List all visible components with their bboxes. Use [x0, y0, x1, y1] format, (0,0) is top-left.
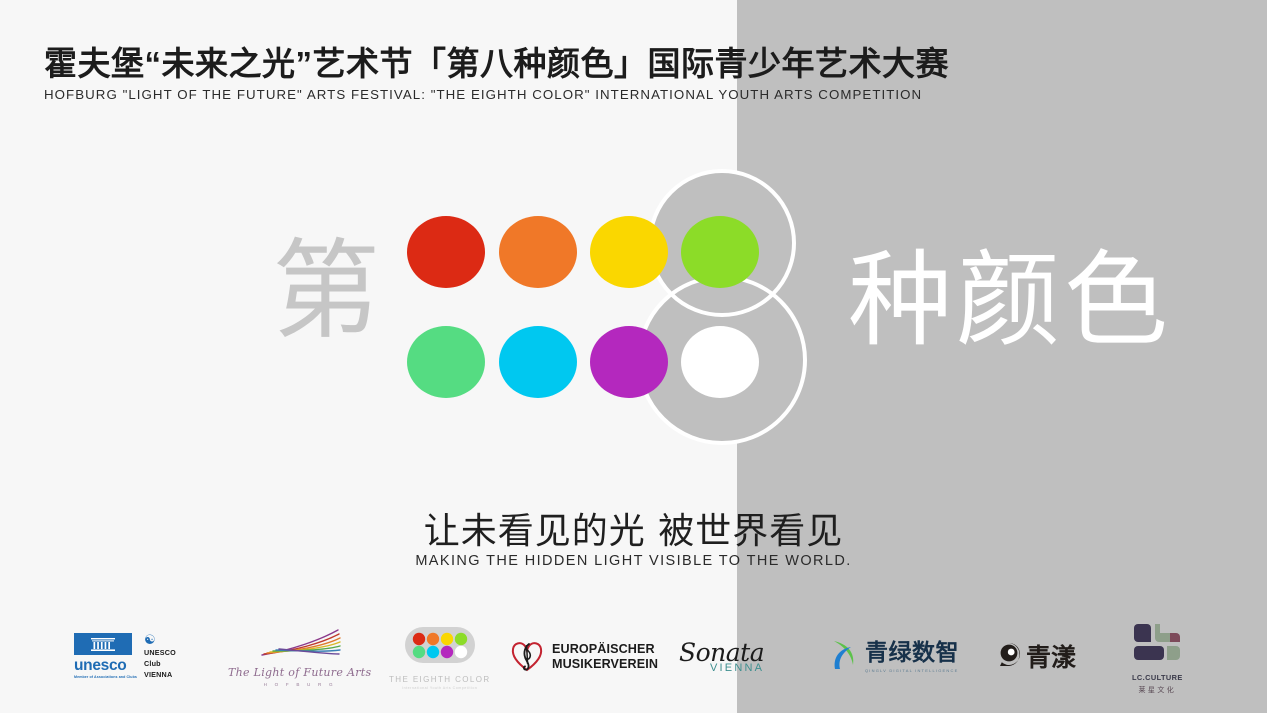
light-rays-icon [258, 628, 342, 663]
dot-cyan [499, 326, 577, 398]
lofa-subtitle: H O F B U R G [264, 682, 336, 687]
poster-canvas: 霍夫堡“未来之光”艺术节「第八种颜色」国际青少年艺术大赛 HOFBURG "LI… [0, 0, 1267, 713]
chars-zhong-yan-se: 种颜色 [848, 248, 1172, 352]
lc-culture-mark-icon [1133, 620, 1181, 669]
unesco-club-line1: UNESCO [144, 648, 176, 659]
logo-light-of-future-arts[interactable]: The Light of Future Arts H O F B U R G [228, 612, 371, 702]
qinglv-name: 青绿数智 [865, 642, 959, 665]
logo-qinglv-shuzhi[interactable]: 青绿数智 QINGLV DIGITAL INTELLIGENCE [829, 612, 959, 702]
heart-treble-clef-icon [510, 637, 544, 678]
unesco-club-line2: Club [144, 659, 176, 670]
tagline-english: MAKING THE HIDDEN LIGHT VISIBLE TO THE W… [0, 553, 1267, 569]
dot-white [681, 326, 759, 398]
logo-unesco[interactable]: unesco Member of Associations and Clubs … [74, 612, 176, 702]
dot-orange [499, 216, 577, 288]
lc-culture-name: LC.CULTURE [1132, 673, 1183, 682]
dot-red [407, 216, 485, 288]
tagline-block: 让未看见的光 被世界看见 MAKING THE HIDDEN LIGHT VIS… [0, 512, 1267, 569]
unesco-dove-icon: ☯ [144, 633, 176, 646]
logo-the-eighth-color[interactable]: THE EIGHTH COLOR International Youth Art… [389, 612, 491, 702]
dot-purple [590, 326, 668, 398]
lofa-name: The Light of Future Arts [228, 666, 371, 679]
title-chinese: 霍夫堡“未来之光”艺术节「第八种颜色」国际青少年艺术大赛 [44, 44, 1224, 84]
green-leaf-icon [829, 638, 859, 677]
sponsor-logo-strip: unesco Member of Associations and Clubs … [0, 612, 1267, 702]
logo-qingyang[interactable]: 青漾 [996, 612, 1076, 702]
unesco-wordmark: unesco [74, 657, 137, 674]
sonata-subtitle: VIENNA [710, 662, 764, 674]
eighth-color-subtitle: International Youth Arts Competition [402, 686, 477, 690]
eighth-color-dots-icon [404, 624, 476, 671]
logo-sonata-vienna[interactable]: Sonata VIENNA [679, 612, 764, 702]
logo-europaischer-musikerverein[interactable]: EUROPÄISCHER MUSIKERVEREIN [510, 612, 658, 702]
color-dot-grid [407, 216, 767, 400]
unesco-club-line3: VIENNA [144, 670, 176, 681]
title-english: HOFBURG "LIGHT OF THE FUTURE" ARTS FESTI… [44, 87, 1224, 102]
char-di: 第 [272, 238, 380, 346]
qingyang-name: 青漾 [1026, 645, 1076, 670]
emv-line2: MUSIKERVEREIN [552, 657, 658, 672]
unesco-temple-icon [74, 633, 132, 655]
dot-green [681, 216, 759, 288]
logo-lc-culture[interactable]: LC.CULTURE 莱星文化 [1132, 612, 1183, 702]
emv-line1: EUROPÄISCHER [552, 642, 658, 657]
central-artwork: 第 种颜色 [0, 0, 1267, 713]
dot-yellow [590, 216, 668, 288]
lc-culture-subtitle: 莱星文化 [1139, 685, 1177, 695]
eighth-color-name: THE EIGHTH COLOR [389, 675, 491, 684]
tagline-chinese: 让未看见的光 被世界看见 [0, 512, 1267, 552]
qingyang-circle-icon [996, 642, 1022, 673]
qinglv-subtitle: QINGLV DIGITAL INTELLIGENCE [865, 668, 959, 673]
dot-mint [407, 326, 485, 398]
poster-header: 霍夫堡“未来之光”艺术节「第八种颜色」国际青少年艺术大赛 HOFBURG "LI… [44, 44, 1224, 102]
unesco-subtitle: Member of Associations and Clubs [74, 675, 137, 679]
